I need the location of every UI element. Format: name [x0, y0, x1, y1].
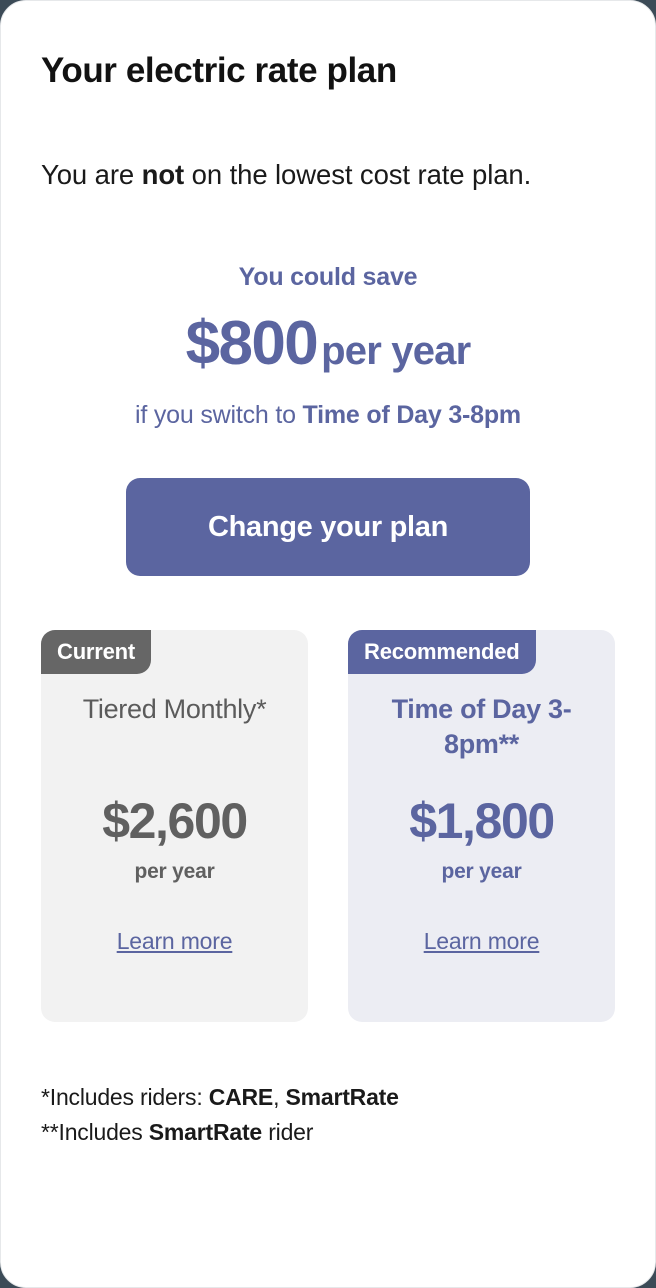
footnote-single-asterisk: *Includes riders: CARE, SmartRate: [41, 1080, 615, 1115]
rate-plan-card-panel: Your electric rate plan You are not on t…: [0, 0, 656, 1288]
footnote-double-asterisk: **Includes SmartRate rider: [41, 1115, 615, 1150]
recommended-badge: Recommended: [348, 630, 536, 674]
savings-summary: You could save $800per year if you switc…: [41, 263, 615, 430]
footnote-one-separator: ,: [273, 1084, 285, 1110]
footnote-two-suffix: rider: [262, 1119, 313, 1145]
plan-card-current: Current Tiered Monthly* $2,600 per year …: [41, 630, 308, 1022]
rate-plan-status-text: You are not on the lowest cost rate plan…: [41, 155, 615, 195]
plan-card-recommended: Recommended Time of Day 3-8pm** $1,800 p…: [348, 630, 615, 1022]
footnote-rider-care: CARE: [209, 1084, 273, 1110]
footnote-one-prefix: *Includes riders:: [41, 1084, 209, 1110]
savings-amount: $800: [186, 309, 318, 378]
plan-comparison: Current Tiered Monthly* $2,600 per year …: [41, 630, 615, 1022]
savings-switch-plan: Time of Day 3-8pm: [303, 401, 521, 429]
plan-period-recommended: per year: [362, 860, 601, 884]
footnote-two-prefix: **Includes: [41, 1119, 149, 1145]
change-your-plan-button[interactable]: Change your plan: [126, 478, 530, 576]
footnote-rider-smartrate-1: SmartRate: [285, 1084, 398, 1110]
plan-name-current: Tiered Monthly*: [55, 692, 294, 762]
screen-viewport: Your electric rate plan You are not on t…: [0, 0, 656, 1288]
plan-price-current: $2,600: [55, 796, 294, 846]
savings-period: per year: [321, 329, 470, 373]
learn-more-link-recommended[interactable]: Learn more: [424, 928, 540, 955]
savings-amount-row: $800per year: [41, 308, 615, 379]
page-title: Your electric rate plan: [41, 51, 615, 91]
status-prefix: You are: [41, 159, 142, 190]
status-suffix: on the lowest cost rate plan.: [184, 159, 531, 190]
savings-switch-prefix: if you switch to: [135, 401, 303, 429]
cta-container: Change your plan: [41, 478, 615, 576]
footnotes: *Includes riders: CARE, SmartRate **Incl…: [41, 1080, 615, 1189]
savings-lead-text: You could save: [41, 263, 615, 292]
savings-switch-text: if you switch to Time of Day 3-8pm: [41, 401, 615, 430]
footnote-rider-smartrate-2: SmartRate: [149, 1119, 262, 1145]
plan-period-current: per year: [55, 860, 294, 884]
status-emphasis: not: [142, 159, 184, 190]
plan-price-recommended: $1,800: [362, 796, 601, 846]
current-badge: Current: [41, 630, 151, 674]
panel-content: Your electric rate plan You are not on t…: [1, 1, 655, 1189]
plan-name-recommended: Time of Day 3-8pm**: [362, 692, 601, 762]
learn-more-link-current[interactable]: Learn more: [117, 928, 233, 955]
